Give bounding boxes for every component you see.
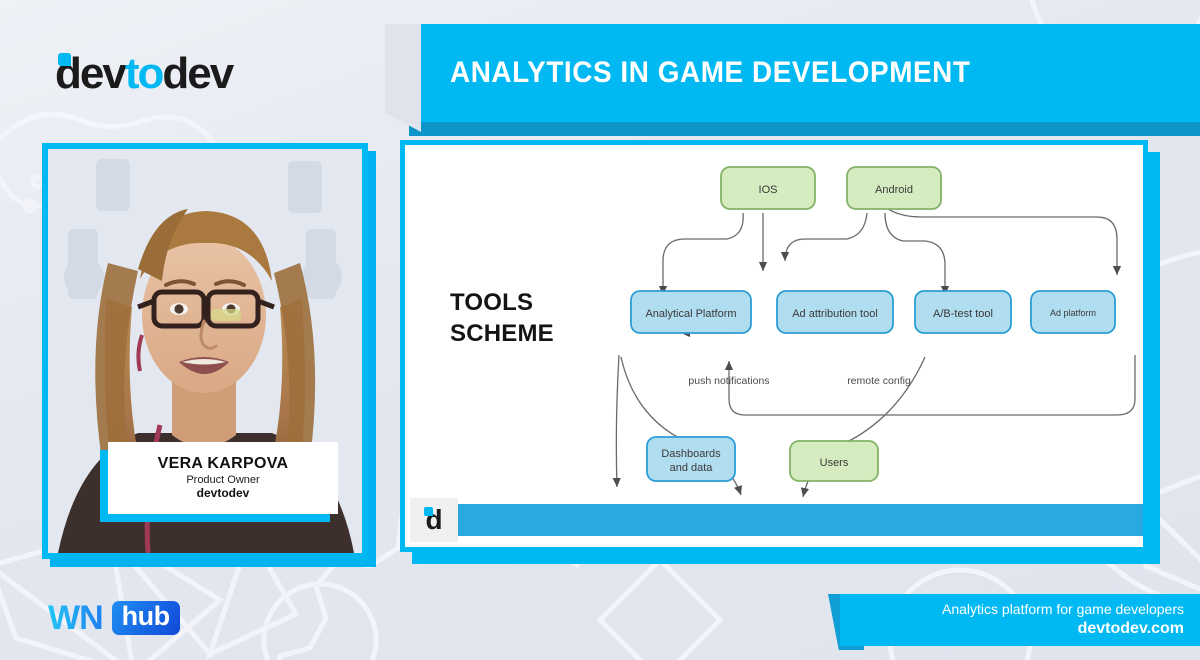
- wnhub-wordmark: WN: [48, 601, 103, 635]
- speaker-card-body: VERA KARPOVA Product Owner devtodev: [108, 442, 338, 514]
- svg-text:IOS: IOS: [759, 184, 778, 196]
- promo-website: devtodev.com: [1078, 619, 1184, 639]
- logo-accent-square: [58, 53, 71, 66]
- speaker-name: VERA KARPOVA: [158, 455, 289, 473]
- svg-text:Android: Android: [875, 184, 913, 196]
- slide-heading-line1: TOOLS: [450, 287, 554, 318]
- edge-label-push-notifications: push notifications: [688, 375, 769, 387]
- slide-footer: d: [410, 498, 1148, 542]
- page-title: ANALYTICS IN GAME DEVELOPMENT: [450, 56, 970, 90]
- slide-panel: IOS Android Analytical Platform Ad attri…: [400, 140, 1148, 552]
- svg-text:and data: and data: [670, 462, 714, 474]
- speaker-name-card: VERA KARPOVA Product Owner devtodev: [108, 442, 338, 514]
- slide-footer-strip: [458, 504, 1148, 536]
- wnhub-logo: WN hub: [48, 598, 180, 638]
- title-banner-fold: [385, 24, 421, 132]
- title-banner-bar: ANALYTICS IN GAME DEVELOPMENT: [409, 24, 1200, 122]
- speaker-role: Product Owner: [186, 474, 259, 486]
- slide-heading-line2: SCHEME: [450, 318, 554, 349]
- logo-wordmark: devtodev: [55, 49, 232, 98]
- title-banner: ANALYTICS IN GAME DEVELOPMENT: [385, 24, 1200, 132]
- logo-text-part2: to: [125, 49, 163, 98]
- speaker-company: devtodev: [197, 487, 250, 500]
- slide-footer-logo: d: [410, 498, 458, 542]
- svg-text:Ad attribution tool: Ad attribution tool: [792, 308, 878, 320]
- devtodev-mark-icon: d: [425, 506, 442, 534]
- slide-heading: TOOLS SCHEME: [450, 287, 554, 349]
- edge-label-remote-config: remote config: [847, 375, 911, 387]
- presentation-screenshot: devtodev: [0, 0, 1200, 660]
- promo-tagline: Analytics platform for game developers: [942, 601, 1184, 619]
- svg-text:Analytical Platform: Analytical Platform: [645, 308, 736, 320]
- logo-text-part3: dev: [162, 49, 232, 98]
- svg-text:Users: Users: [820, 457, 849, 469]
- promo-banner-body: Analytics platform for game developers d…: [840, 594, 1200, 646]
- wnhub-badge: hub: [112, 601, 180, 634]
- mark-accent-square: [424, 507, 433, 516]
- svg-text:Dashboards: Dashboards: [661, 448, 721, 460]
- devtodev-logo: devtodev: [55, 48, 295, 100]
- webcam-frame[interactable]: VERA KARPOVA Product Owner devtodev: [42, 143, 368, 559]
- speaker-webcam-panel: VERA KARPOVA Product Owner devtodev: [42, 143, 368, 559]
- slide-content[interactable]: IOS Android Analytical Platform Ad attri…: [400, 140, 1148, 552]
- svg-text:A/B-test tool: A/B-test tool: [933, 308, 993, 320]
- promo-banner: Analytics platform for game developers d…: [828, 594, 1200, 650]
- svg-text:Ad platform: Ad platform: [1050, 308, 1096, 318]
